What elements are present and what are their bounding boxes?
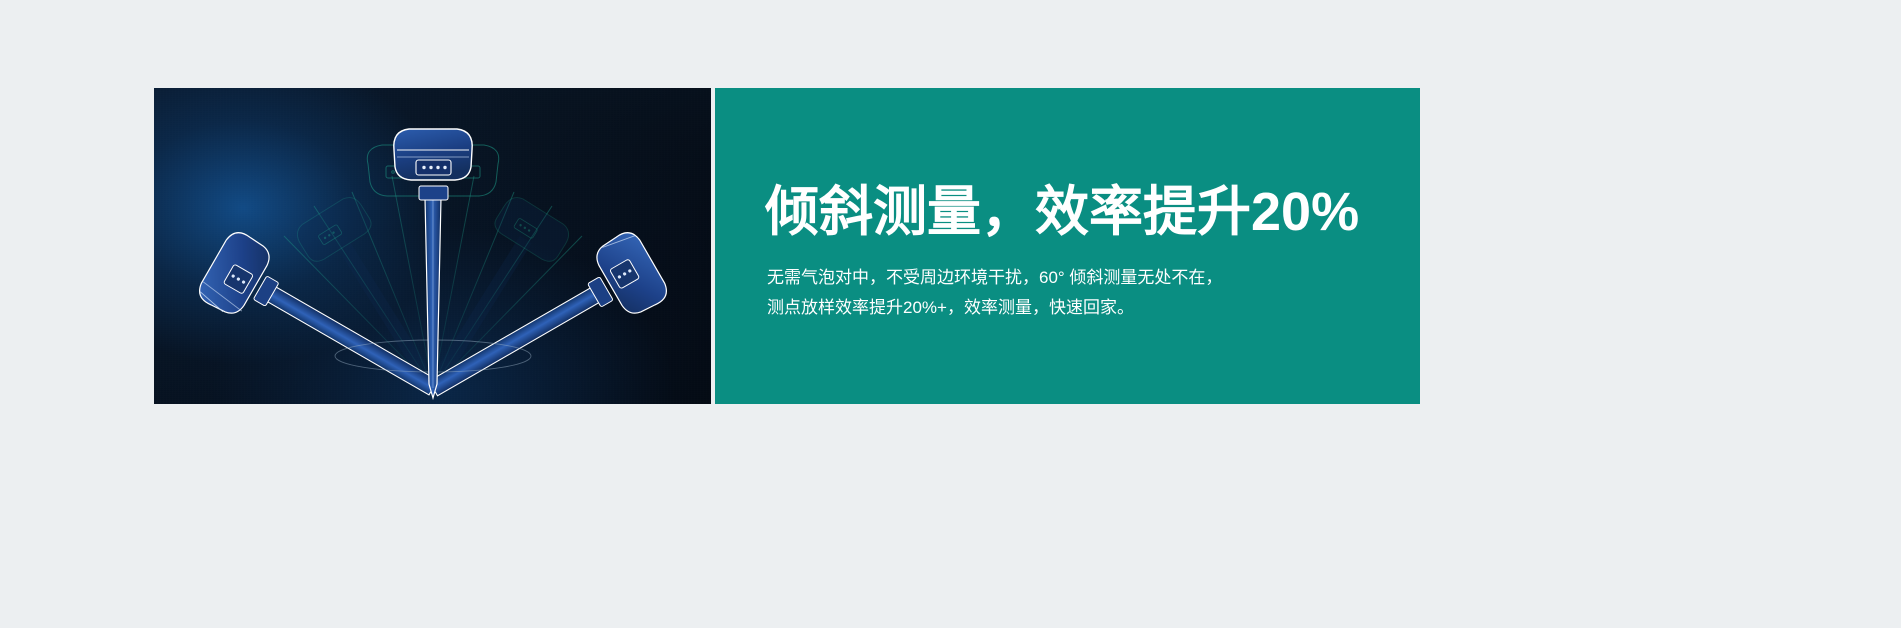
feature-text-panel: 倾斜测量，效率提升20% 无需气泡对中，不受周边环境干扰，60° 倾斜测量无处不… [715, 88, 1420, 404]
subcopy-line-2: 测点放样效率提升20%+，效率测量，快速回家。 [767, 293, 1222, 323]
subcopy: 无需气泡对中，不受周边环境干扰，60° 倾斜测量无处不在， 测点放样效率提升20… [767, 263, 1222, 323]
gnss-tilt-receivers-illustration [154, 88, 711, 404]
feature-banner: 倾斜测量，效率提升20% 无需气泡对中，不受周边环境干扰，60° 倾斜测量无处不… [154, 88, 1420, 404]
headline: 倾斜测量，效率提升20% [765, 184, 1359, 240]
subcopy-line-1: 无需气泡对中，不受周边环境干扰，60° 倾斜测量无处不在， [767, 263, 1222, 293]
receiver-center-upright [394, 129, 472, 398]
product-image-panel [154, 88, 711, 404]
